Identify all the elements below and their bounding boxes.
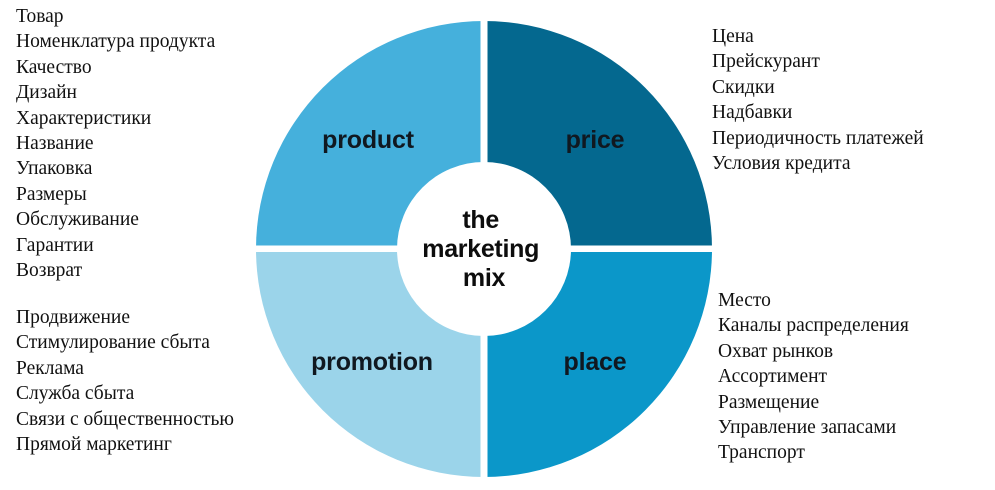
list-item: Стимулирование сбыта — [16, 330, 234, 355]
list-item: Цена — [712, 24, 924, 49]
list-item: Гарантии — [16, 233, 215, 258]
list-item: Реклама — [16, 356, 234, 381]
list-item: Служба сбыта — [16, 381, 234, 406]
list-item: Скидки — [712, 75, 924, 100]
marketing-mix-donut: product price promotion place the market… — [255, 20, 713, 478]
segment-label-product: product — [322, 126, 415, 154]
list-item: Связи с общественностью — [16, 407, 234, 432]
list-item: Продвижение — [16, 305, 234, 330]
segment-label-place: place — [564, 348, 627, 376]
list-item: Охват рынков — [718, 339, 909, 364]
segment-label-promotion: promotion — [311, 348, 433, 376]
list-item: Управление запасами — [718, 415, 909, 440]
list-item: Размеры — [16, 182, 215, 207]
list-item: Место — [718, 288, 909, 313]
list-price: ЦенаПрейскурантСкидкиНадбавкиПериодичнос… — [712, 24, 924, 176]
diagram-canvas: ТоварНоменклатура продуктаКачествоДизайн… — [0, 0, 995, 490]
list-place: МестоКаналы распределенияОхват рынковАсс… — [718, 288, 909, 466]
list-item: Прейскурант — [712, 49, 924, 74]
list-product: ТоварНоменклатура продуктаКачествоДизайн… — [16, 4, 215, 283]
list-item: Дизайн — [16, 80, 215, 105]
list-item: Упаковка — [16, 156, 215, 181]
list-item: Каналы распределения — [718, 313, 909, 338]
list-item: Транспорт — [718, 440, 909, 465]
list-item: Номенклатура продукта — [16, 29, 215, 54]
list-item: Прямой маркетинг — [16, 432, 234, 457]
list-item: Ассортимент — [718, 364, 909, 389]
list-item: Надбавки — [712, 100, 924, 125]
list-item: Условия кредита — [712, 151, 924, 176]
list-promotion: ПродвижениеСтимулирование сбытаРекламаСл… — [16, 305, 234, 457]
list-item: Товар — [16, 4, 215, 29]
list-item: Характеристики — [16, 106, 215, 131]
segment-label-price: price — [566, 126, 625, 154]
list-item: Размещение — [718, 390, 909, 415]
list-item: Обслуживание — [16, 207, 215, 232]
list-item: Периодичность платежей — [712, 126, 924, 151]
list-item: Название — [16, 131, 215, 156]
list-item: Качество — [16, 55, 215, 80]
list-item: Возврат — [16, 258, 215, 283]
